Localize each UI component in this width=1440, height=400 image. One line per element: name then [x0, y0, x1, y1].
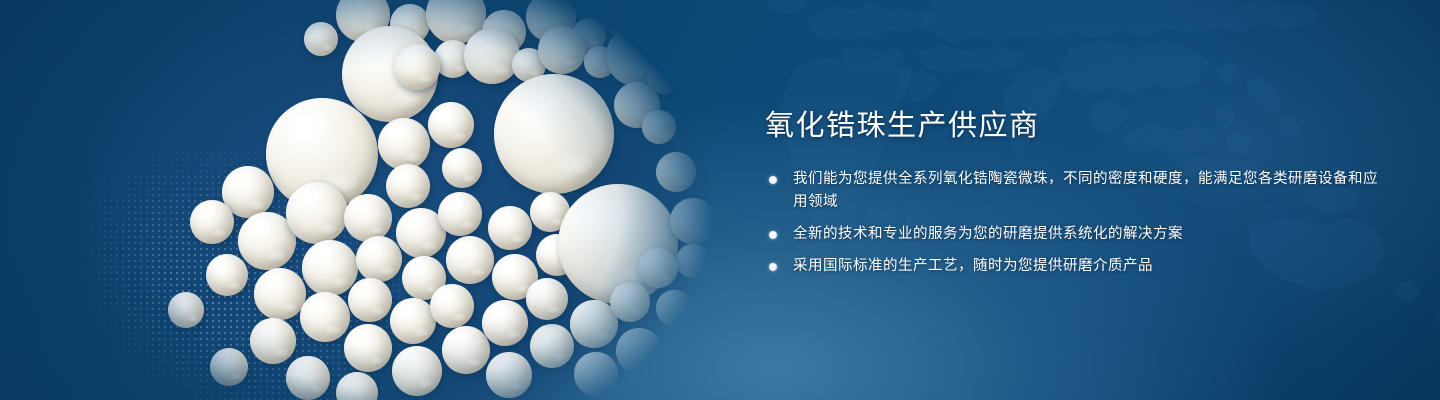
banner-text-block: 氧化锆珠生产供应商 我们能为您提供全系列氧化锆陶瓷微珠，不同的密度和硬度，能满足… [765, 108, 1385, 278]
bead [348, 278, 392, 322]
bead [646, 56, 684, 94]
bead [430, 284, 474, 328]
bead [442, 326, 490, 374]
bullet-dot-icon [769, 231, 777, 239]
bead [378, 118, 430, 170]
bead [336, 372, 378, 400]
bead [442, 148, 482, 188]
bead [168, 292, 204, 328]
bead [616, 328, 662, 374]
bead [530, 324, 574, 368]
hero-banner: 氧化锆珠生产供应商 我们能为您提供全系列氧化锆陶瓷微珠，不同的密度和硬度，能满足… [0, 0, 1440, 400]
bead [638, 248, 678, 288]
bead [344, 194, 392, 242]
bead [676, 244, 710, 278]
bead [574, 352, 618, 396]
bead [210, 348, 248, 386]
bead [344, 324, 392, 372]
bead [190, 200, 234, 244]
bead [386, 164, 430, 208]
bead [286, 182, 348, 244]
bead [526, 278, 568, 320]
banner-title: 氧化锆珠生产供应商 [765, 108, 1385, 144]
banner-bullet-item: 采用国际标准的生产工艺，随时为您提供研磨介质产品 [765, 255, 1385, 278]
bead [610, 282, 650, 322]
bead [464, 28, 520, 84]
bead [662, 352, 702, 392]
bead [538, 26, 586, 74]
bead [642, 110, 676, 144]
bead [438, 192, 482, 236]
zirconia-beads-photo [90, 0, 730, 400]
bead [656, 290, 692, 326]
bullet-dot-icon [769, 176, 777, 184]
banner-bullet-text: 采用国际标准的生产工艺，随时为您提供研磨介质产品 [793, 258, 1153, 274]
banner-bullet-text: 全新的技术和专业的服务为您的研磨提供系统化的解决方案 [793, 226, 1183, 242]
bead-cluster [90, 0, 730, 400]
bead [670, 198, 716, 244]
banner-bullet-item: 我们能为您提供全系列氧化锆陶瓷微珠，不同的密度和硬度，能满足您各类研磨设备和应用… [765, 168, 1385, 214]
bead [446, 236, 494, 284]
bead [488, 206, 532, 250]
bead [656, 152, 696, 192]
banner-bullet-text: 我们能为您提供全系列氧化锆陶瓷微珠，不同的密度和硬度，能满足您各类研磨设备和应用… [793, 171, 1378, 210]
bead [356, 236, 402, 282]
bead [254, 268, 306, 320]
bead [304, 22, 338, 56]
bead [482, 300, 528, 346]
bead [392, 346, 442, 396]
banner-bullet-list: 我们能为您提供全系列氧化锆陶瓷微珠，不同的密度和硬度，能满足您各类研磨设备和应用… [765, 168, 1385, 278]
bullet-dot-icon [769, 263, 777, 271]
bead [394, 44, 440, 90]
bead [300, 292, 350, 342]
bead [206, 254, 248, 296]
bead [428, 102, 474, 148]
banner-bullet-item: 全新的技术和专业的服务为您的研磨提供系统化的解决方案 [765, 223, 1385, 246]
bead [486, 352, 532, 398]
bead [302, 240, 358, 296]
bead [250, 318, 296, 364]
bead [286, 356, 330, 400]
bead [494, 74, 614, 194]
